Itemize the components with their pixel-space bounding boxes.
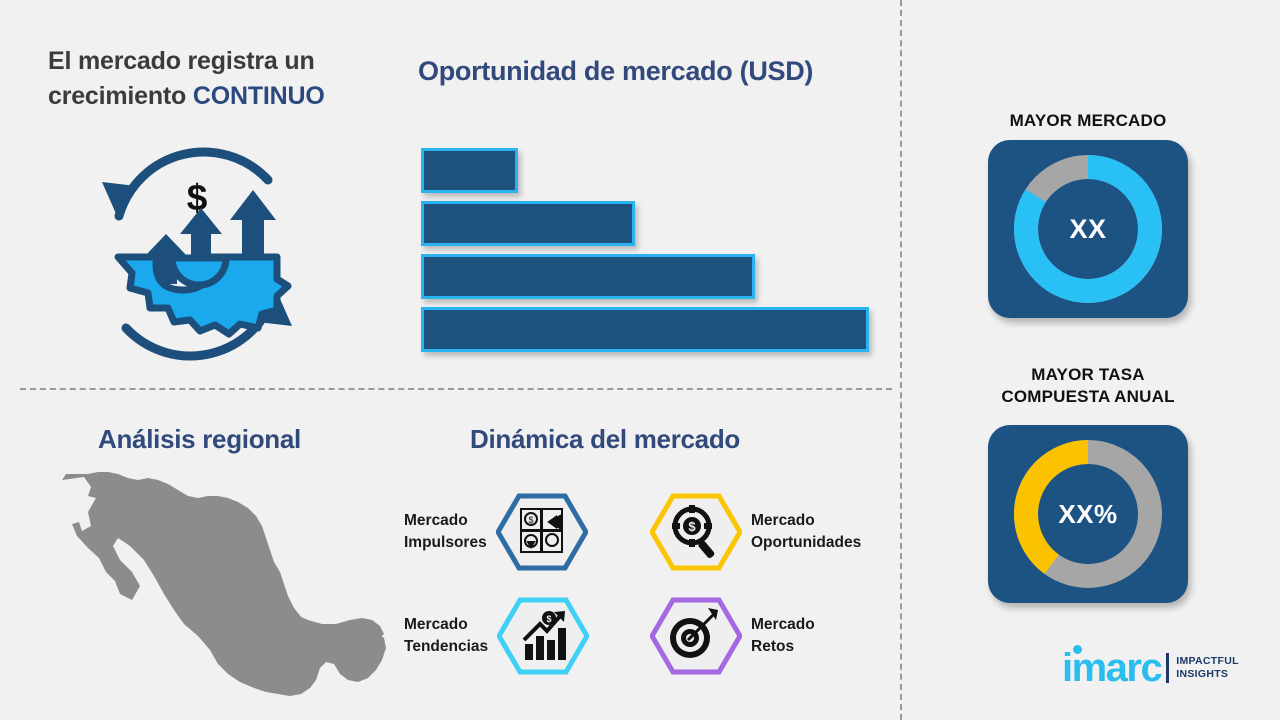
svg-text:$: $ <box>528 515 533 525</box>
metric-value-largest-market: XX <box>988 140 1188 318</box>
dynamics-item-drivers[interactable]: Mercado Impulsores $ <box>404 492 588 572</box>
metric-card-highest-cagr: XX% <box>988 425 1188 603</box>
dynamics-item-label: Mercado Tendencias <box>404 614 488 659</box>
metric-card-largest-market: XX <box>988 140 1188 318</box>
dollar-symbol: $ <box>187 177 208 218</box>
market-opportunity-bar-chart <box>421 148 881 348</box>
vertical-divider <box>900 0 902 720</box>
bar-chart-bar <box>421 307 869 352</box>
headline-line-2-plain: crecimiento <box>48 82 193 110</box>
metric-heading-highest-cagr: MAYOR TASA COMPUESTA ANUAL <box>948 364 1228 409</box>
infographic-page: El mercado registra un crecimiento CONTI… <box>0 0 1280 720</box>
logo-wordmark: imarc <box>1062 652 1161 685</box>
dynamics-item-label: Mercado Oportunidades <box>751 510 861 555</box>
bar-chart-bar <box>421 201 635 246</box>
chart-title: Oportunidad de mercado (USD) <box>418 56 813 87</box>
page-headline: El mercado registra un crecimiento CONTI… <box>48 44 408 113</box>
market-dynamics-title: Dinámica del mercado <box>470 424 740 455</box>
headline-line-1: El mercado registra un <box>48 47 315 75</box>
svg-text:$: $ <box>688 519 696 534</box>
logo-tagline: IMPACTFUL INSIGHTS <box>1176 655 1239 682</box>
mexico-map <box>58 468 388 703</box>
dynamics-item-label: Mercado Retos <box>751 614 815 659</box>
logo-dot-icon <box>1073 645 1082 654</box>
dynamics-item-challenges[interactable]: Mercado Retos <box>650 596 815 676</box>
metric-value-highest-cagr: XX% <box>988 425 1188 603</box>
bar-chart-bar <box>421 148 518 193</box>
magnifier-dollar-icon: $ <box>650 492 742 572</box>
puzzle-pieces-icon: $ <box>496 492 588 572</box>
regional-analysis-title: Análisis regional <box>98 424 301 455</box>
svg-text:$: $ <box>547 614 552 624</box>
bar-chart-bar <box>421 254 755 299</box>
logo-separator <box>1166 653 1169 683</box>
imarc-logo: imarc IMPACTFUL INSIGHTS <box>1062 652 1239 685</box>
target-arrow-icon <box>650 596 742 676</box>
metric-heading-largest-market: MAYOR MERCADO <box>948 110 1228 132</box>
horizontal-divider <box>20 388 892 390</box>
growth-gear-icon: $ <box>72 138 322 370</box>
dynamics-item-opportunities[interactable]: $ Mercado Oportunidades <box>650 492 861 572</box>
headline-line-2-accent: CONTINUO <box>193 82 325 110</box>
bar-chart-growth-icon: $ <box>497 596 589 676</box>
dynamics-item-trends[interactable]: Mercado Tendencias $ <box>404 596 589 676</box>
dynamics-item-label: Mercado Impulsores <box>404 510 487 555</box>
